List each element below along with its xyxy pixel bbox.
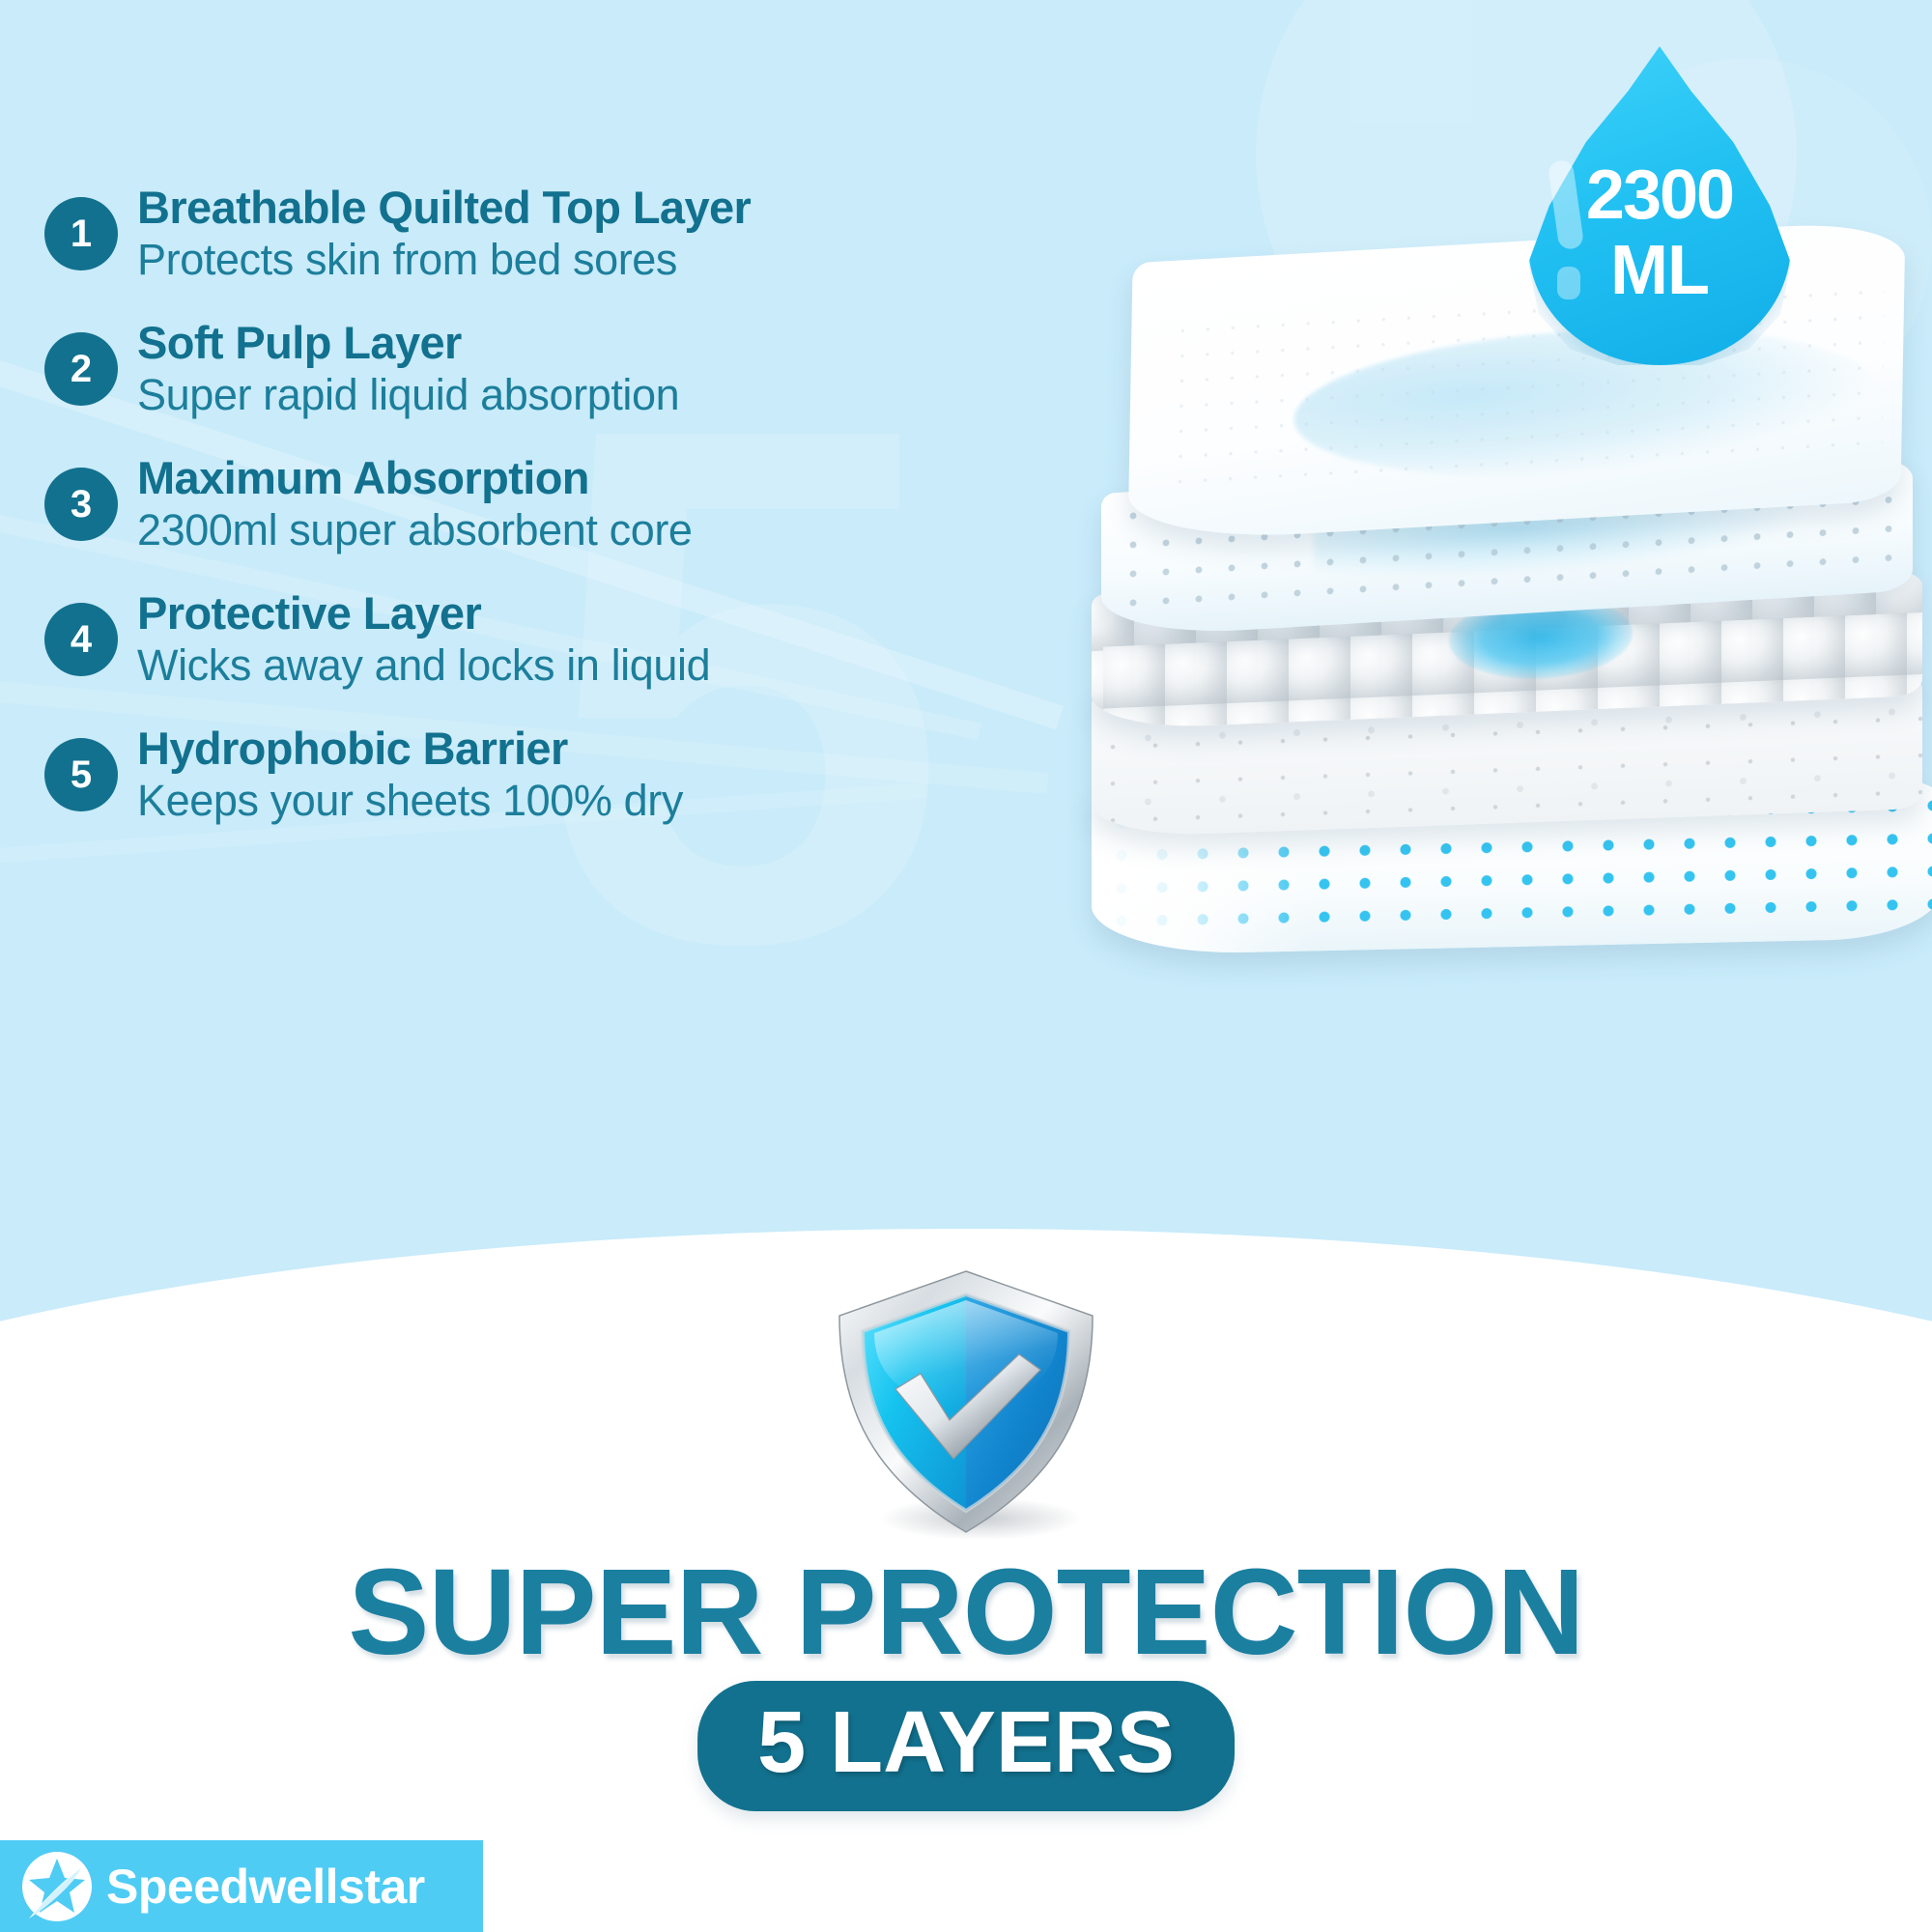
page-title: SUPER PROTECTION — [0, 1542, 1932, 1682]
feature-text: Soft Pulp Layer Super rapid liquid absor… — [137, 319, 914, 419]
feature-title: Protective Layer — [137, 589, 914, 639]
layers-count-badge: 5 LAYERS — [697, 1681, 1235, 1811]
list-item: 4 Protective Layer Wicks away and locks … — [44, 589, 914, 690]
feature-text: Breathable Quilted Top Layer Protects sk… — [137, 184, 914, 284]
feature-text: Protective Layer Wicks away and locks in… — [137, 589, 914, 690]
drop-label: 2300 ML — [1528, 160, 1791, 305]
feature-title: Breathable Quilted Top Layer — [137, 184, 914, 233]
feature-title: Maximum Absorption — [137, 454, 914, 503]
list-item: 5 Hydrophobic Barrier Keeps your sheets … — [44, 724, 914, 825]
shield-badge — [826, 1265, 1106, 1546]
list-item: 1 Breathable Quilted Top Layer Protects … — [44, 184, 914, 284]
product-layer-stack-image — [1092, 241, 1932, 976]
brand-name: Speedwellstar — [106, 1859, 425, 1915]
infographic-canvas: 5 1 Breathable Quilted Top Layer Protect… — [0, 0, 1932, 1932]
feature-title: Soft Pulp Layer — [137, 319, 914, 368]
feature-number-badge: 5 — [44, 738, 118, 811]
feature-text: Hydrophobic Barrier Keeps your sheets 10… — [137, 724, 914, 825]
feature-subtitle: Keeps your sheets 100% dry — [137, 776, 914, 825]
brand-logo-banner[interactable]: Speedwellstar — [0, 1840, 483, 1932]
feature-title: Hydrophobic Barrier — [137, 724, 914, 774]
feature-text: Maximum Absorption 2300ml super absorben… — [137, 454, 914, 554]
feature-list: 1 Breathable Quilted Top Layer Protects … — [44, 184, 914, 860]
feature-subtitle: Super rapid liquid absorption — [137, 370, 914, 419]
feature-number-badge: 4 — [44, 603, 118, 676]
list-item: 2 Soft Pulp Layer Super rapid liquid abs… — [44, 319, 914, 419]
shield-check-icon — [826, 1265, 1106, 1546]
feature-subtitle: Wicks away and locks in liquid — [137, 640, 914, 690]
list-item: 3 Maximum Absorption 2300ml super absorb… — [44, 454, 914, 554]
feature-subtitle: 2300ml super absorbent core — [137, 505, 914, 554]
drop-unit: ML — [1528, 236, 1791, 305]
capacity-drop-badge: 2300 ML — [1528, 46, 1791, 365]
feature-number-badge: 2 — [44, 332, 118, 406]
drop-amount: 2300 — [1528, 160, 1791, 230]
feature-number-badge: 3 — [44, 468, 118, 541]
feature-number-badge: 1 — [44, 197, 118, 270]
feature-subtitle: Protects skin from bed sores — [137, 235, 914, 284]
speedwellstar-star-icon — [21, 1851, 93, 1922]
